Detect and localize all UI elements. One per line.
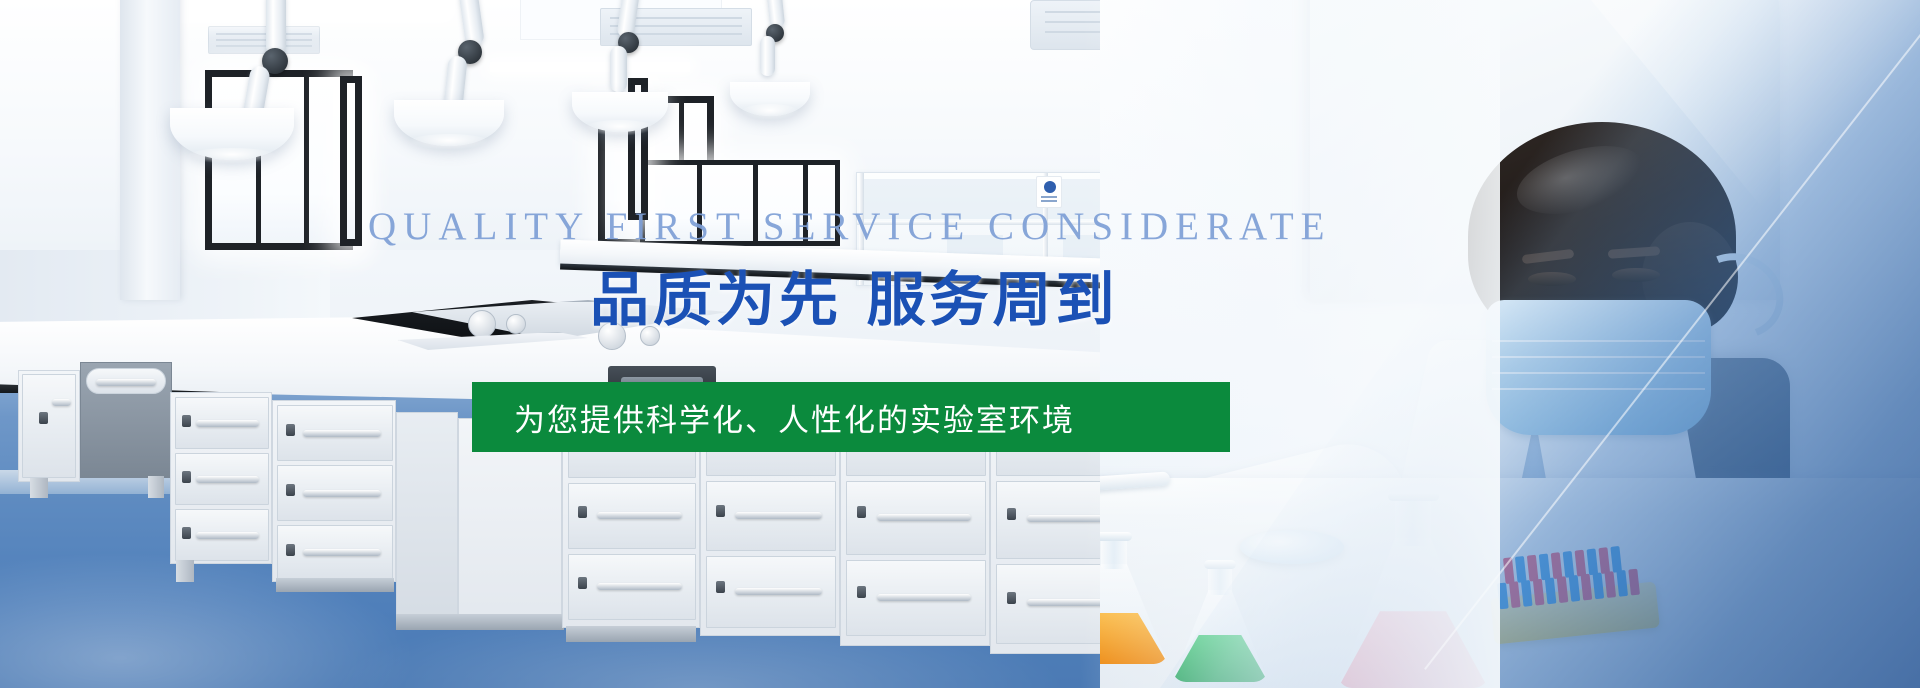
cabinet-kickplate xyxy=(566,626,696,642)
service-knob xyxy=(598,322,626,350)
drawer-cabinet xyxy=(272,400,396,582)
lamp-hood xyxy=(170,108,294,160)
drawer-cabinet xyxy=(700,400,840,636)
cabinet-kickplate xyxy=(276,578,394,592)
pull-out-shelf xyxy=(86,368,166,394)
lamp-hood xyxy=(394,100,504,146)
lamp-hood xyxy=(572,92,668,132)
cabinet-kickplate xyxy=(396,614,564,630)
service-knob xyxy=(468,310,496,338)
erlenmeyer-flask-orange xyxy=(1100,536,1168,664)
drawer-cabinet xyxy=(840,396,990,646)
base-cabinet xyxy=(458,418,562,626)
bench-tray xyxy=(608,366,716,404)
petri-dish xyxy=(1240,530,1344,564)
drawer-cabinet xyxy=(170,392,272,564)
surgical-mask xyxy=(1486,300,1711,435)
side-cabinet xyxy=(18,370,80,482)
bench-end-panel xyxy=(396,412,458,624)
eye-right xyxy=(1612,268,1660,282)
hero-banner: QUALITY FIRST SERVICE CONSIDERATE 品质为先 服… xyxy=(0,0,1920,688)
erlenmeyer-flask-pink xyxy=(1338,496,1488,688)
drawer-cabinet xyxy=(562,406,700,628)
window xyxy=(640,160,840,246)
erlenmeyer-flask-green xyxy=(1172,564,1268,682)
lamp-hood xyxy=(730,82,810,116)
service-knob xyxy=(506,314,526,334)
cabinet-leg xyxy=(148,476,164,498)
cabinet-leg xyxy=(176,560,194,582)
eye-left xyxy=(1528,272,1576,286)
safety-sign-icon xyxy=(1036,176,1062,208)
scientist-photo xyxy=(1100,0,1920,688)
service-knob xyxy=(640,326,660,346)
cabinet-leg xyxy=(30,478,48,498)
